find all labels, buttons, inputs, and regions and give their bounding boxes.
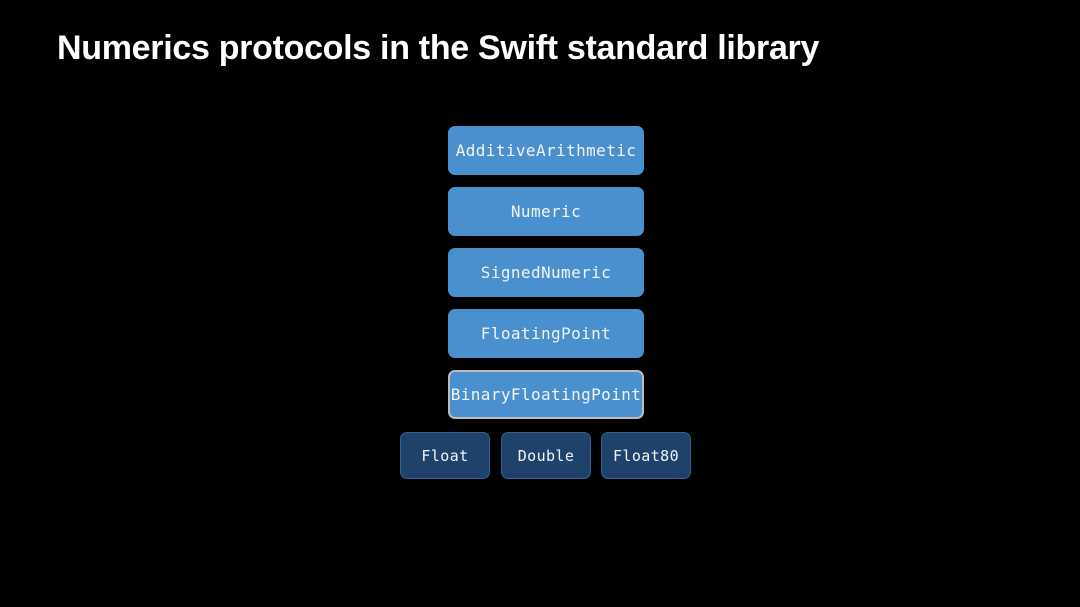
protocol-node-additivearithmetic[interactable]: AdditiveArithmetic bbox=[448, 126, 644, 175]
protocol-node-binaryfloatingpoint[interactable]: BinaryFloatingPoint bbox=[448, 370, 644, 419]
protocol-node-label: AdditiveArithmetic bbox=[456, 141, 637, 160]
concrete-type-node-double[interactable]: Double bbox=[501, 432, 591, 479]
concrete-type-node-label: Double bbox=[518, 447, 575, 465]
protocol-node-signednumeric[interactable]: SignedNumeric bbox=[448, 248, 644, 297]
concrete-type-node-label: Float bbox=[421, 447, 468, 465]
numerics-protocol-hierarchy-diagram: AdditiveArithmetic Numeric SignedNumeric… bbox=[0, 0, 1080, 607]
concrete-type-node-float80[interactable]: Float80 bbox=[601, 432, 691, 479]
protocol-node-label: SignedNumeric bbox=[481, 263, 611, 282]
protocol-node-label: BinaryFloatingPoint bbox=[451, 385, 642, 404]
slide: Numerics protocols in the Swift standard… bbox=[0, 0, 1080, 607]
protocol-node-label: FloatingPoint bbox=[481, 324, 611, 343]
concrete-type-node-label: Float80 bbox=[613, 447, 679, 465]
concrete-type-node-float[interactable]: Float bbox=[400, 432, 490, 479]
protocol-node-label: Numeric bbox=[511, 202, 581, 221]
protocol-node-floatingpoint[interactable]: FloatingPoint bbox=[448, 309, 644, 358]
protocol-node-numeric[interactable]: Numeric bbox=[448, 187, 644, 236]
